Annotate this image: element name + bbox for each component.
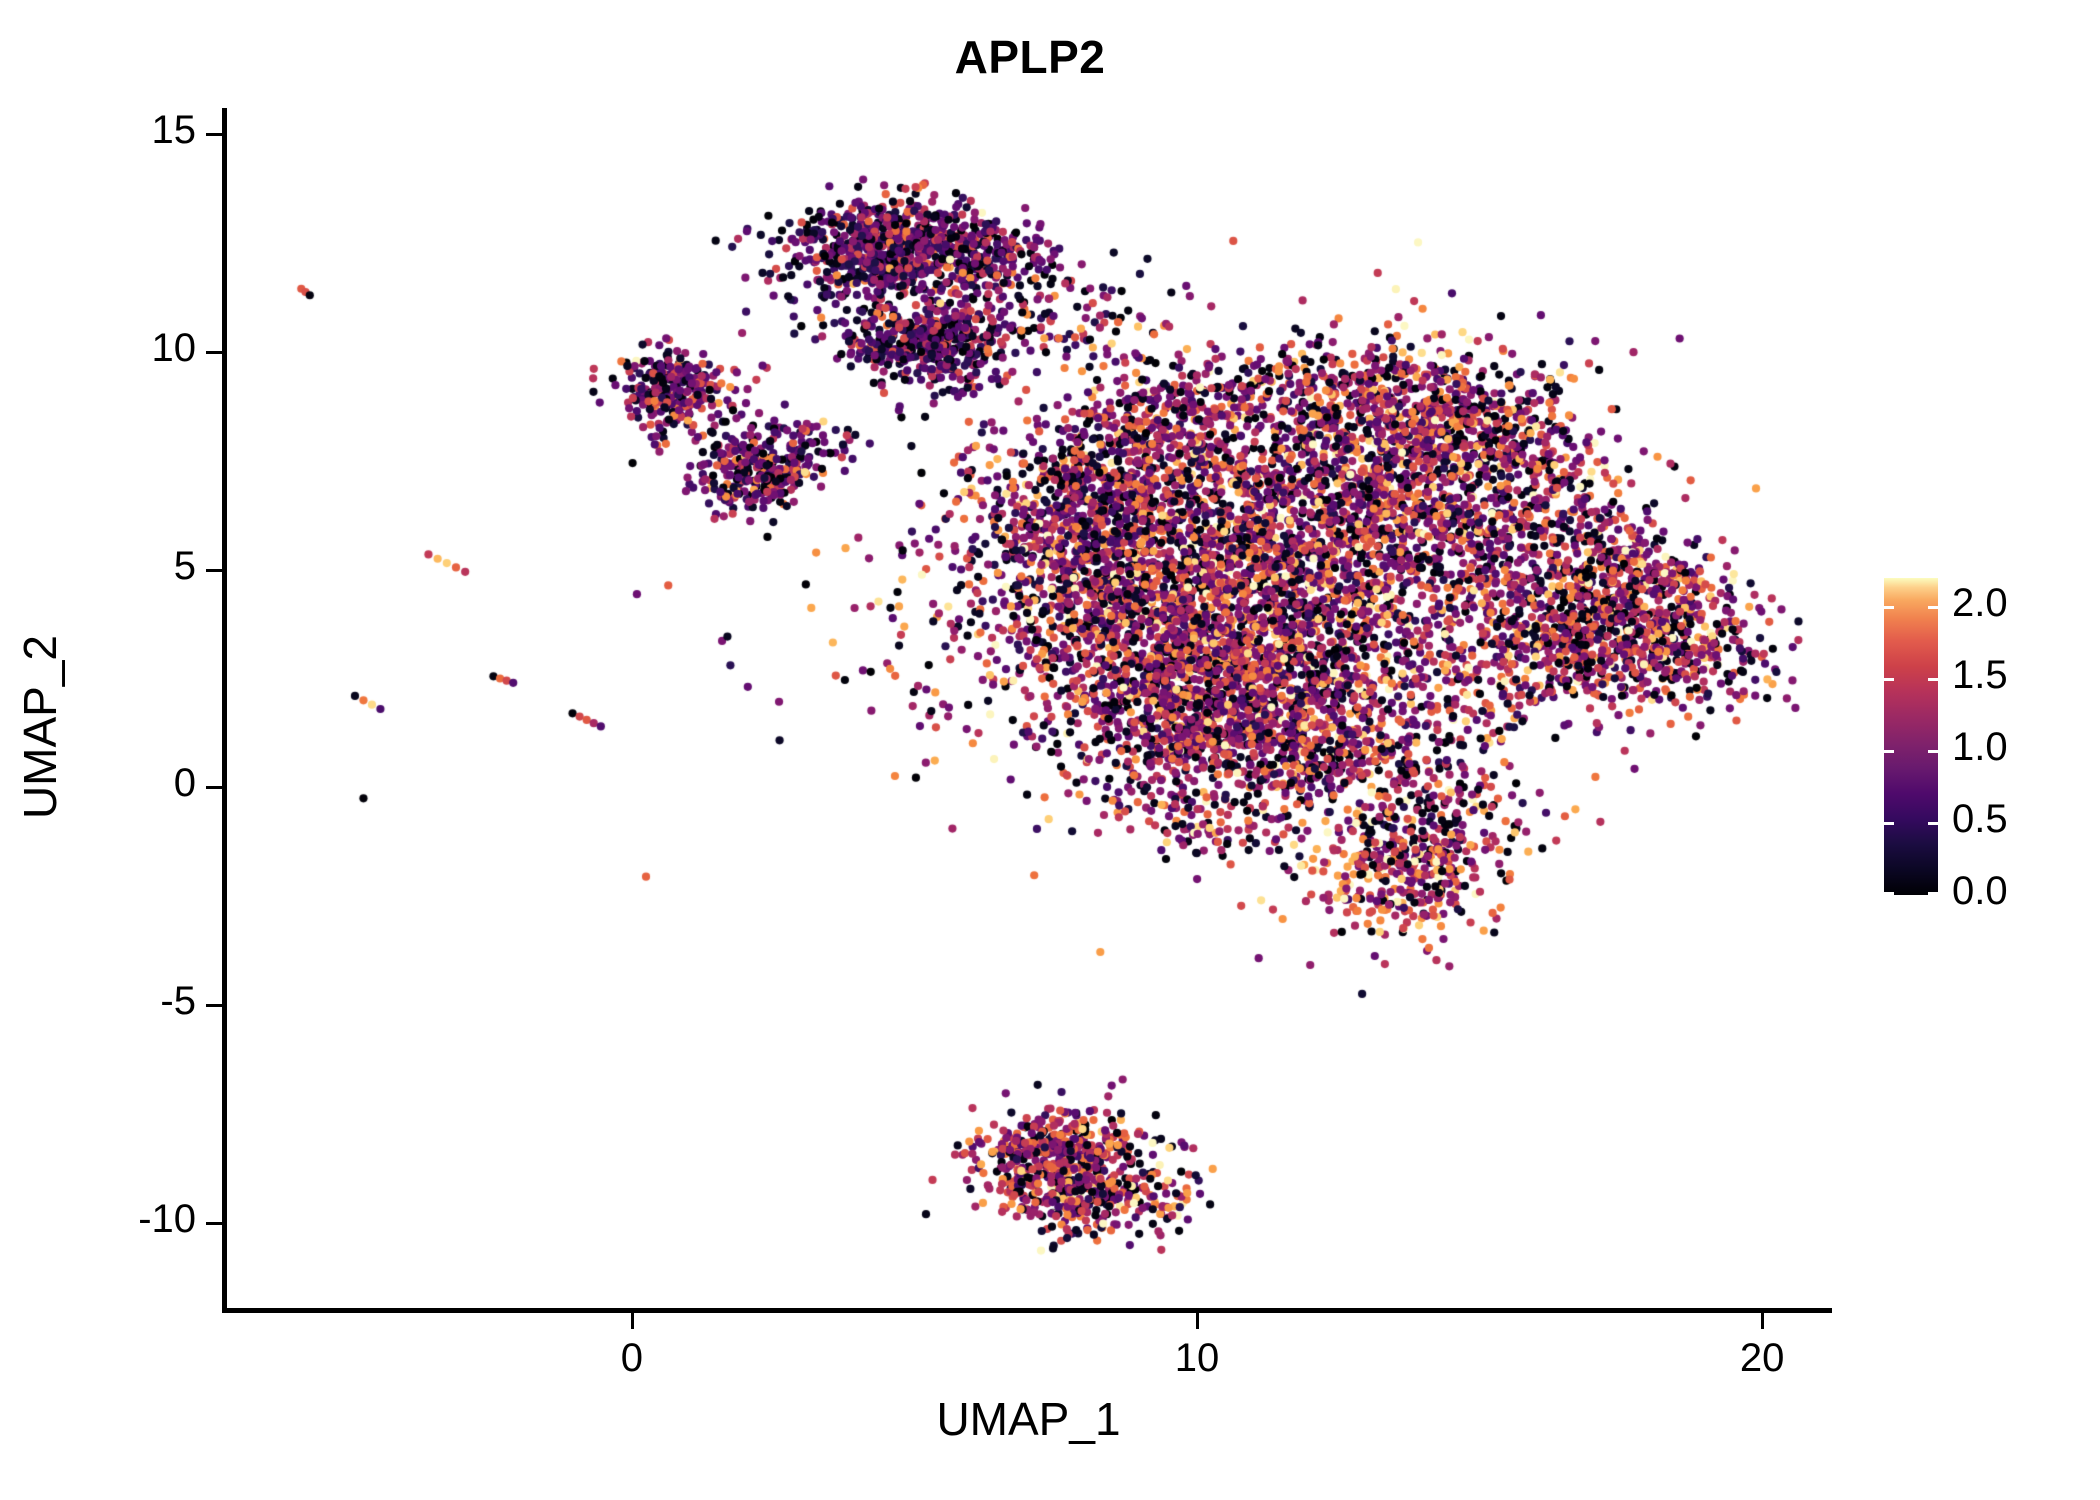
y-tick-mark (206, 133, 222, 136)
page-title: APLP2 (0, 30, 2060, 84)
y-tick-mark (206, 1222, 222, 1225)
x-tick-label: 10 (1117, 1336, 1277, 1381)
x-axis-line (225, 1308, 1832, 1313)
colorbar-tick-label: 1.0 (1952, 725, 2008, 770)
x-tick-label: 0 (552, 1336, 712, 1381)
colorbar-tick-mark (1884, 892, 1894, 895)
y-axis-title: UMAP_2 (13, 127, 67, 1327)
colorbar-gradient (1884, 578, 1938, 895)
colorbar-tick-mark (1928, 750, 1938, 753)
colorbar-tick-mark (1884, 606, 1894, 609)
y-axis-line (222, 108, 227, 1313)
y-tick-mark (206, 1004, 222, 1007)
y-tick-mark (206, 351, 222, 354)
colorbar-tick-mark (1884, 750, 1894, 753)
colorbar-tick-mark (1884, 822, 1894, 825)
colorbar-tick-mark (1928, 822, 1938, 825)
x-tick-label: 20 (1682, 1336, 1842, 1381)
colorbar-tick-mark (1928, 892, 1938, 895)
colorbar-legend: 2.01.51.00.50.0 (1884, 578, 2084, 898)
scatter-canvas (225, 108, 1830, 1310)
colorbar-tick-mark (1928, 678, 1938, 681)
plot-panel (225, 108, 1830, 1310)
colorbar-tick-label: 1.5 (1952, 653, 2008, 698)
colorbar-tick-label: 0.0 (1952, 869, 2008, 914)
chart-root: APLP2 01020 -10-5051015 UMAP_1 UMAP_2 2.… (0, 0, 2100, 1500)
x-tick-mark (631, 1313, 634, 1329)
y-tick-mark (206, 569, 222, 572)
x-tick-mark (1196, 1313, 1199, 1329)
x-axis-title: UMAP_1 (225, 1392, 1832, 1446)
colorbar-tick-label: 2.0 (1952, 581, 2008, 626)
colorbar-tick-mark (1928, 606, 1938, 609)
colorbar-tick-mark (1884, 678, 1894, 681)
x-tick-mark (1761, 1313, 1764, 1329)
colorbar-tick-label: 0.5 (1952, 797, 2008, 842)
y-tick-mark (206, 786, 222, 789)
